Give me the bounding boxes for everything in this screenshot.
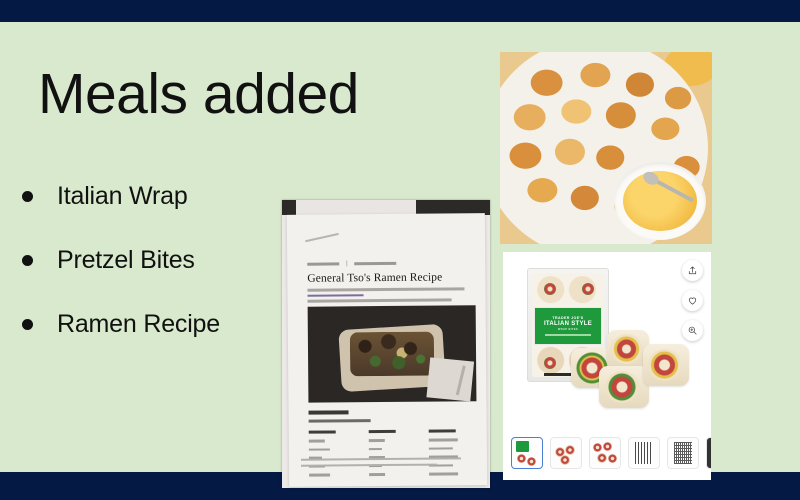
zoom-in-icon	[687, 325, 698, 336]
list-item: Pretzel Bites	[14, 228, 284, 292]
thumbnail-rolls[interactable]	[550, 437, 582, 469]
document-mark	[305, 233, 339, 242]
document-title: General Tso's Ramen Recipe	[307, 272, 442, 285]
bullet-label: Italian Wrap	[57, 182, 188, 211]
product-listing-panel: TRADER JOE'S ITALIAN STYLE WRAP BITES	[503, 252, 711, 480]
wrap-roll	[599, 366, 649, 408]
zoom-button[interactable]	[682, 320, 703, 341]
bullet-dot-icon	[22, 255, 33, 266]
list-item: Italian Wrap	[14, 164, 284, 228]
share-button[interactable]	[682, 260, 703, 281]
package-brand: TRADER JOE'S	[552, 316, 583, 320]
recipe-document-image: General Tso's Ramen Recipe	[282, 200, 490, 488]
ingredients-column	[309, 430, 355, 482]
ingredients-column	[369, 430, 415, 482]
thumbnail-package[interactable]	[511, 437, 543, 469]
thumbnail-ingredients-text[interactable]	[667, 437, 699, 469]
document-sheet: General Tso's Ramen Recipe	[287, 213, 487, 487]
meals-bullet-list: Italian Wrap Pretzel Bites Ramen Recipe	[14, 164, 284, 356]
product-thumbnail-strip: +1	[511, 436, 703, 470]
document-ingredients-columns	[309, 429, 475, 482]
thumbnail-serving[interactable]	[589, 437, 621, 469]
heart-icon	[687, 295, 698, 306]
pretzel-bites-image	[500, 52, 712, 244]
wrap-roll	[643, 344, 689, 386]
product-action-buttons	[682, 260, 703, 341]
document-breadcrumb	[307, 260, 396, 267]
package-subtitle: WRAP BITES	[558, 328, 578, 331]
package-name: ITALIAN STYLE	[544, 321, 592, 327]
bullet-dot-icon	[22, 319, 33, 330]
favorite-button[interactable]	[682, 290, 703, 311]
document-footer-text	[301, 457, 475, 471]
list-item: Ramen Recipe	[14, 292, 284, 356]
bullet-label: Ramen Recipe	[57, 310, 220, 339]
thumbnail-nutrition-label[interactable]	[628, 437, 660, 469]
bullet-dot-icon	[22, 191, 33, 202]
document-ingredients-subheading	[309, 419, 371, 423]
ingredients-column	[429, 429, 475, 481]
document-intro-text	[307, 287, 471, 305]
share-icon	[687, 265, 698, 276]
package-label: TRADER JOE'S ITALIAN STYLE WRAP BITES	[534, 307, 602, 345]
document-food-photo	[308, 305, 477, 402]
cheese-dip-bowl	[614, 162, 706, 240]
top-accent-bar	[0, 0, 800, 22]
product-image-stage: TRADER JOE'S ITALIAN STYLE WRAP BITES	[503, 252, 711, 424]
page-title: Meals added	[38, 66, 359, 123]
bullet-label: Pretzel Bites	[57, 246, 195, 275]
document-ingredients-heading	[309, 410, 349, 414]
slide-canvas: Meals added Italian Wrap Pretzel Bites R…	[0, 22, 800, 472]
thumbnail-more-button[interactable]: +1	[706, 437, 711, 469]
